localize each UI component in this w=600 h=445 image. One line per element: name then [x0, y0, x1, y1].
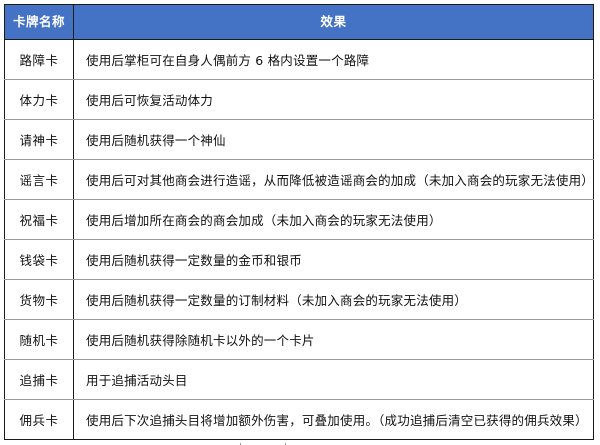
table-row: 体力卡使用后可恢复活动体力	[5, 80, 594, 120]
card-effect-cell: 使用后可恢复活动体力	[74, 80, 594, 120]
card-effect-cell: 使用后下次追捕头目将增加额外伤害，可叠加使用。（成功追捕后清空已获得的佣兵效果）	[74, 400, 594, 440]
table-header-row: 卡牌名称 效果	[5, 5, 594, 40]
card-table-container: 卡牌名称 效果 路障卡使用后掌柜可在自身人偶前方 6 格内设置一个路障体力卡使用…	[4, 4, 593, 440]
column-header-card-name: 卡牌名称	[5, 5, 74, 40]
card-effect-cell: 使用后随机获得一个神仙	[74, 120, 594, 160]
card-effect-cell: 使用后随机获得除随机卡以外的一个卡片	[74, 320, 594, 360]
card-name-cell: 谣言卡	[5, 160, 74, 200]
table-row: 祝福卡使用后增加所在商会的商会加成（未加入商会的玩家无法使用）	[5, 200, 594, 240]
table-row: 随机卡使用后随机获得除随机卡以外的一个卡片	[5, 320, 594, 360]
table-row: 请神卡使用后随机获得一个神仙	[5, 120, 594, 160]
card-effect-cell: 使用后可对其他商会进行造谣，从而降低被造谣商会的加成（未加入商会的玩家无法使用）	[74, 160, 594, 200]
table-body: 路障卡使用后掌柜可在自身人偶前方 6 格内设置一个路障体力卡使用后可恢复活动体力…	[5, 40, 594, 440]
card-effect-cell: 使用后增加所在商会的商会加成（未加入商会的玩家无法使用）	[74, 200, 594, 240]
card-effects-table: 卡牌名称 效果 路障卡使用后掌柜可在自身人偶前方 6 格内设置一个路障体力卡使用…	[4, 4, 594, 440]
table-row: 货物卡使用后随机获得一定数量的订制材料（未加入商会的玩家无法使用）	[5, 280, 594, 320]
table-header: 卡牌名称 效果	[5, 5, 594, 40]
card-name-cell: 体力卡	[5, 80, 74, 120]
table-row: 钱袋卡使用后随机获得一定数量的金币和银币	[5, 240, 594, 280]
card-effect-cell: 使用后掌柜可在自身人偶前方 6 格内设置一个路障	[74, 40, 594, 80]
card-name-cell: 请神卡	[5, 120, 74, 160]
card-name-cell: 佣兵卡	[5, 400, 74, 440]
card-name-cell: 祝福卡	[5, 200, 74, 240]
card-name-cell: 路障卡	[5, 40, 74, 80]
table-row: 路障卡使用后掌柜可在自身人偶前方 6 格内设置一个路障	[5, 40, 594, 80]
column-header-effect: 效果	[74, 5, 594, 40]
card-name-cell: 追捕卡	[5, 360, 74, 400]
table-row: 佣兵卡使用后下次追捕头目将增加额外伤害，可叠加使用。（成功追捕后清空已获得的佣兵…	[5, 400, 594, 440]
table-row: 谣言卡使用后可对其他商会进行造谣，从而降低被造谣商会的加成（未加入商会的玩家无法…	[5, 160, 594, 200]
card-effect-cell: 使用后随机获得一定数量的订制材料（未加入商会的玩家无法使用）	[74, 280, 594, 320]
card-effect-cell: 用于追捕活动头目	[74, 360, 594, 400]
card-name-cell: 钱袋卡	[5, 240, 74, 280]
table-row: 追捕卡用于追捕活动头目	[5, 360, 594, 400]
card-effect-cell: 使用后随机获得一定数量的金币和银币	[74, 240, 594, 280]
card-name-cell: 随机卡	[5, 320, 74, 360]
card-name-cell: 货物卡	[5, 280, 74, 320]
